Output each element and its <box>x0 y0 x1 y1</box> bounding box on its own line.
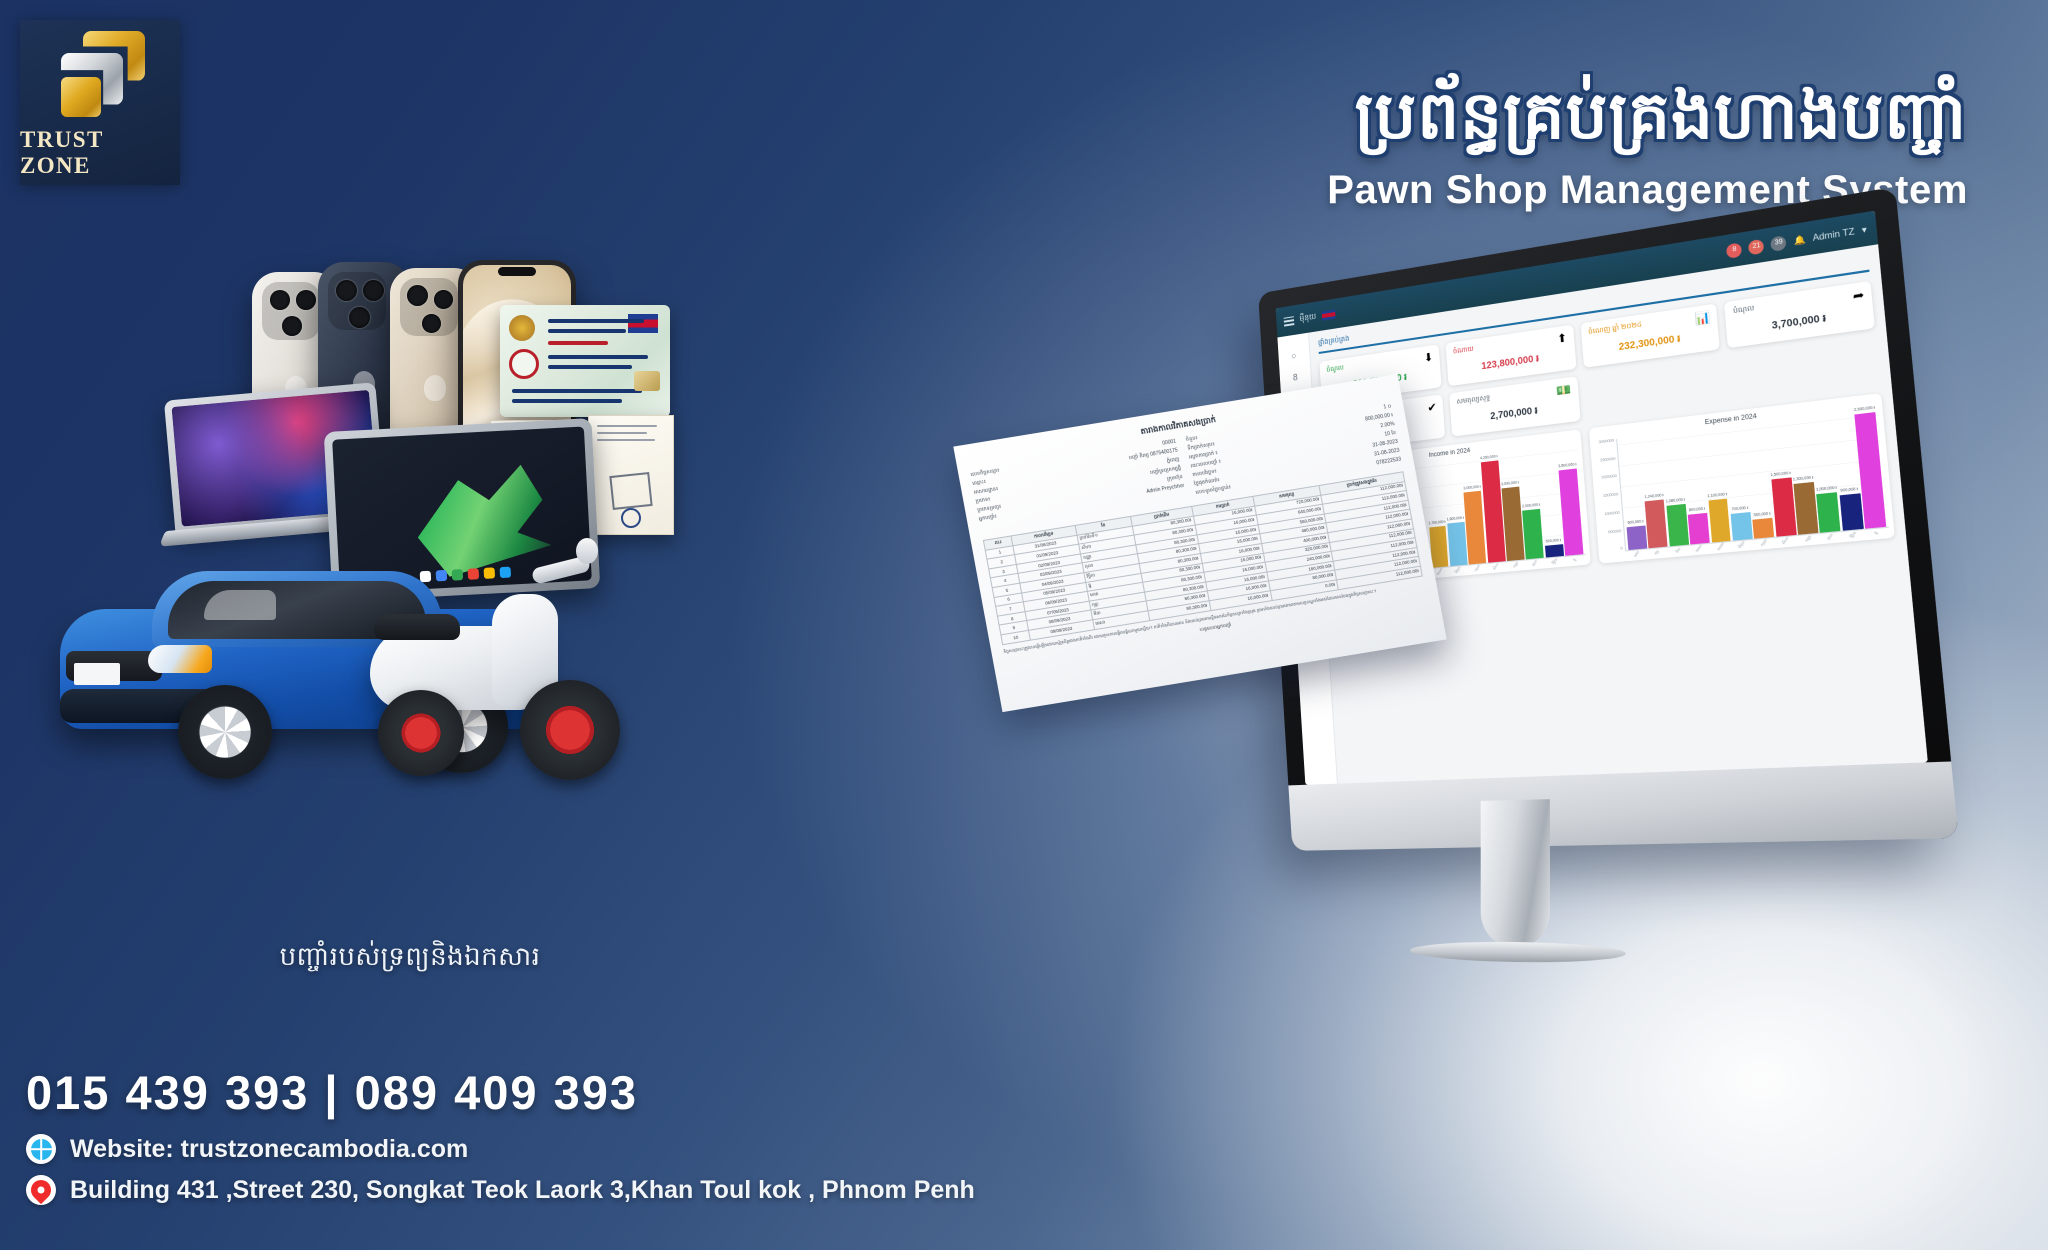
land-title-document-image <box>588 415 674 535</box>
y-tick-label: 1000000 <box>1604 511 1620 516</box>
brand-name: TRUST ZONE <box>20 127 180 179</box>
headline-block: ប្រព័ន្ធគ្រប់គ្រងហាងបញ្ចាំ Pawn Shop Man… <box>918 78 1968 213</box>
field-value: 10 ខែ <box>1384 430 1397 439</box>
white-scooter-image <box>360 560 620 790</box>
chart-bar[interactable]: 1,100,000 ៛ <box>1708 499 1731 543</box>
bell-icon[interactable]: 🔔 <box>1793 234 1806 246</box>
bar-value-label: 3,000,000 ៛ <box>1463 485 1481 492</box>
field-key: ប្រភេទ៖ <box>975 496 991 505</box>
bar-value-label: 500,000 ៛ <box>1546 537 1562 544</box>
chart-bar[interactable]: 2,000,000 ៛ <box>1523 509 1545 559</box>
bar-value-label: 1,800,000 ៛ <box>1447 515 1465 522</box>
field-value: 1 ០ <box>1383 403 1392 411</box>
bar-value-label: 700,000 ៛ <box>1731 505 1748 512</box>
share-icon: ➦ <box>1852 288 1865 304</box>
bar-value-label: 900,000 ៛ <box>1840 487 1858 494</box>
address-label: Building 431 ,Street 230, Songkat Teok L… <box>70 1176 975 1205</box>
cambodian-id-card-image <box>500 305 670 417</box>
chart-card: Expense in 20243000000250000020000001500… <box>1589 393 1895 564</box>
apple-logo-icon <box>424 375 446 401</box>
chart-bar[interactable]: 600,000 ៛ <box>1627 526 1648 550</box>
dynamic-island-icon <box>498 267 536 276</box>
field-key: ចំនួន៖ <box>1185 435 1198 444</box>
location-pin-icon <box>26 1175 56 1205</box>
check-icon: ✔ <box>1427 400 1437 414</box>
stat-card[interactable]: ⬆ចំណាយ123,800,000 ៛ <box>1445 325 1576 387</box>
chart-bar[interactable]: 1,300,000 ៛ <box>1793 482 1818 534</box>
tab-dashboard[interactable]: ផ្ទាំងគ្រប់គ្រង <box>1318 334 1350 349</box>
cambodia-flag-icon[interactable] <box>1322 309 1336 320</box>
website-label[interactable]: Website: trustzonecambodia.com <box>70 1135 468 1164</box>
chart-bar[interactable]: 3,000,000 ៛ <box>1502 487 1525 561</box>
globe-icon <box>26 1134 56 1164</box>
field-value: 078222533 <box>1376 456 1402 467</box>
field-value: 2.00% <box>1380 421 1395 430</box>
stat-card[interactable]: 💵សមតុល្យសុទ្ធ2,700,000 ៛ <box>1449 376 1580 436</box>
field-key: ឈ្មោះ៖ <box>972 479 987 488</box>
bar-value-label: 500,000 ៛ <box>1754 511 1771 518</box>
field-value: ភ្នំពេញ <box>1166 456 1180 465</box>
stat-card[interactable]: 📊ចំណេញ ឆ្នាំ ២០២៤232,300,000 ៛ <box>1580 303 1720 367</box>
chevron-down-icon[interactable]: ▾ <box>1861 224 1867 235</box>
website-row[interactable]: Website: trustzonecambodia.com <box>26 1134 1226 1164</box>
document-seal-icon <box>621 508 641 528</box>
bar-value-label: 3,000,000 ៛ <box>1501 481 1519 488</box>
bar-value-label: 4,200,000 ៛ <box>1480 454 1498 461</box>
notification-badge[interactable]: 8 <box>1726 242 1742 259</box>
address-row: Building 431 ,Street 230, Songkat Teok L… <box>26 1175 1226 1205</box>
land-plot-diagram-icon <box>609 472 652 510</box>
field-key: អ្នកបញ្ចាំ៖ <box>978 514 997 524</box>
menu-hamburger-icon[interactable] <box>1284 316 1295 326</box>
chart-bar[interactable]: 3,500,000 ៛ <box>1559 468 1584 555</box>
y-tick-label: 3000000 <box>1599 439 1615 445</box>
y-tick-label: 0 <box>1620 548 1623 552</box>
bar-value-label: 1,240,000 ៛ <box>1644 493 1664 500</box>
bar-value-label: 2,900,000 ៛ <box>1854 406 1876 414</box>
download-icon: ⬇ <box>1424 350 1434 365</box>
bar-value-label: 600,000 ៛ <box>1628 520 1644 527</box>
chart-bar[interactable]: 1,000,000 ៛ <box>1817 492 1841 533</box>
message-badge[interactable]: 21 <box>1748 238 1764 255</box>
stat-card[interactable]: ➦បំណុល3,700,000 ៛ <box>1724 281 1875 348</box>
y-tick-label: 1500000 <box>1603 493 1619 498</box>
bar-value-label: 1,500,000 ៛ <box>1770 470 1791 478</box>
bar-chart-icon: 📊 <box>1694 310 1711 326</box>
chart-bar[interactable]: 1,500,000 ៛ <box>1771 477 1796 537</box>
official-stamp-icon <box>509 349 539 379</box>
scooter-mirror-icon <box>576 538 598 564</box>
user-menu-label[interactable]: Admin TZ <box>1812 226 1855 243</box>
chart-bar[interactable]: 1,080,000 ៛ <box>1666 504 1689 547</box>
bar-value-label: 1,100,000 ៛ <box>1707 492 1727 500</box>
chart-bar[interactable]: 1,240,000 ៛ <box>1645 500 1668 548</box>
collage-caption: បញ្ចាំរបស់ទ្រព្យនិងឯកសារ <box>60 940 760 978</box>
bar-value-label: 1,080,000 ៛ <box>1665 497 1685 504</box>
task-badge[interactable]: 39 <box>1771 235 1788 252</box>
bar-value-label: 1,300,000 ៛ <box>1793 476 1814 484</box>
bar-value-label: 2,000,000 ៛ <box>1522 503 1540 510</box>
topbar-menu-label: ម៉ឺនុយ <box>1299 311 1316 325</box>
id-chip-icon <box>634 371 660 391</box>
car-headlight-icon <box>148 645 212 673</box>
y-tick-label: 2500000 <box>1600 457 1616 463</box>
contact-block: 015 439 393 | 089 409 393 Website: trust… <box>26 1065 1226 1216</box>
product-collage: បញ្ចាំរបស់ទ្រព្យនិងឯកសារ <box>60 250 760 930</box>
scooter-seat-icon <box>374 614 460 640</box>
page-title-khmer: ប្រព័ន្ធគ្រប់គ្រងហាងបញ្ចាំ <box>918 78 1968 154</box>
chart-bar[interactable]: 800,000 ៛ <box>1688 512 1710 544</box>
field-value: 00001 <box>1162 439 1177 448</box>
chart-bar[interactable]: 700,000 ៛ <box>1730 512 1752 541</box>
monitor-stand <box>1458 799 1573 992</box>
logo-gold-square-icon <box>61 77 101 117</box>
brand-logo: TRUST ZONE <box>20 20 180 185</box>
bar-value-label: 3,500,000 ៛ <box>1558 462 1577 469</box>
field-value: ក្រុមហ៊ុន <box>1167 474 1184 483</box>
royal-emblem-icon <box>509 315 535 341</box>
y-tick-label: 500000 <box>1608 530 1622 535</box>
money-icon: 💵 <box>1556 382 1572 398</box>
upload-icon: ⬆ <box>1557 331 1568 346</box>
y-tick-label: 2000000 <box>1601 475 1617 481</box>
bar-value-label: 1,700,000 ៛ <box>1428 520 1446 527</box>
trust-zone-chevron-logo <box>49 31 151 119</box>
cambodia-flag-icon <box>628 314 658 333</box>
license-plate-icon <box>74 663 120 685</box>
phone-numbers[interactable]: 015 439 393 | 089 409 393 <box>26 1065 1226 1120</box>
bar-value-label: 1,000,000 ៛ <box>1816 485 1837 493</box>
bar-value-label: 800,000 ៛ <box>1689 506 1706 513</box>
chart-bar[interactable]: 900,000 ៛ <box>1839 493 1863 530</box>
chart-bar[interactable]: 1,800,000 ៛ <box>1447 522 1467 567</box>
